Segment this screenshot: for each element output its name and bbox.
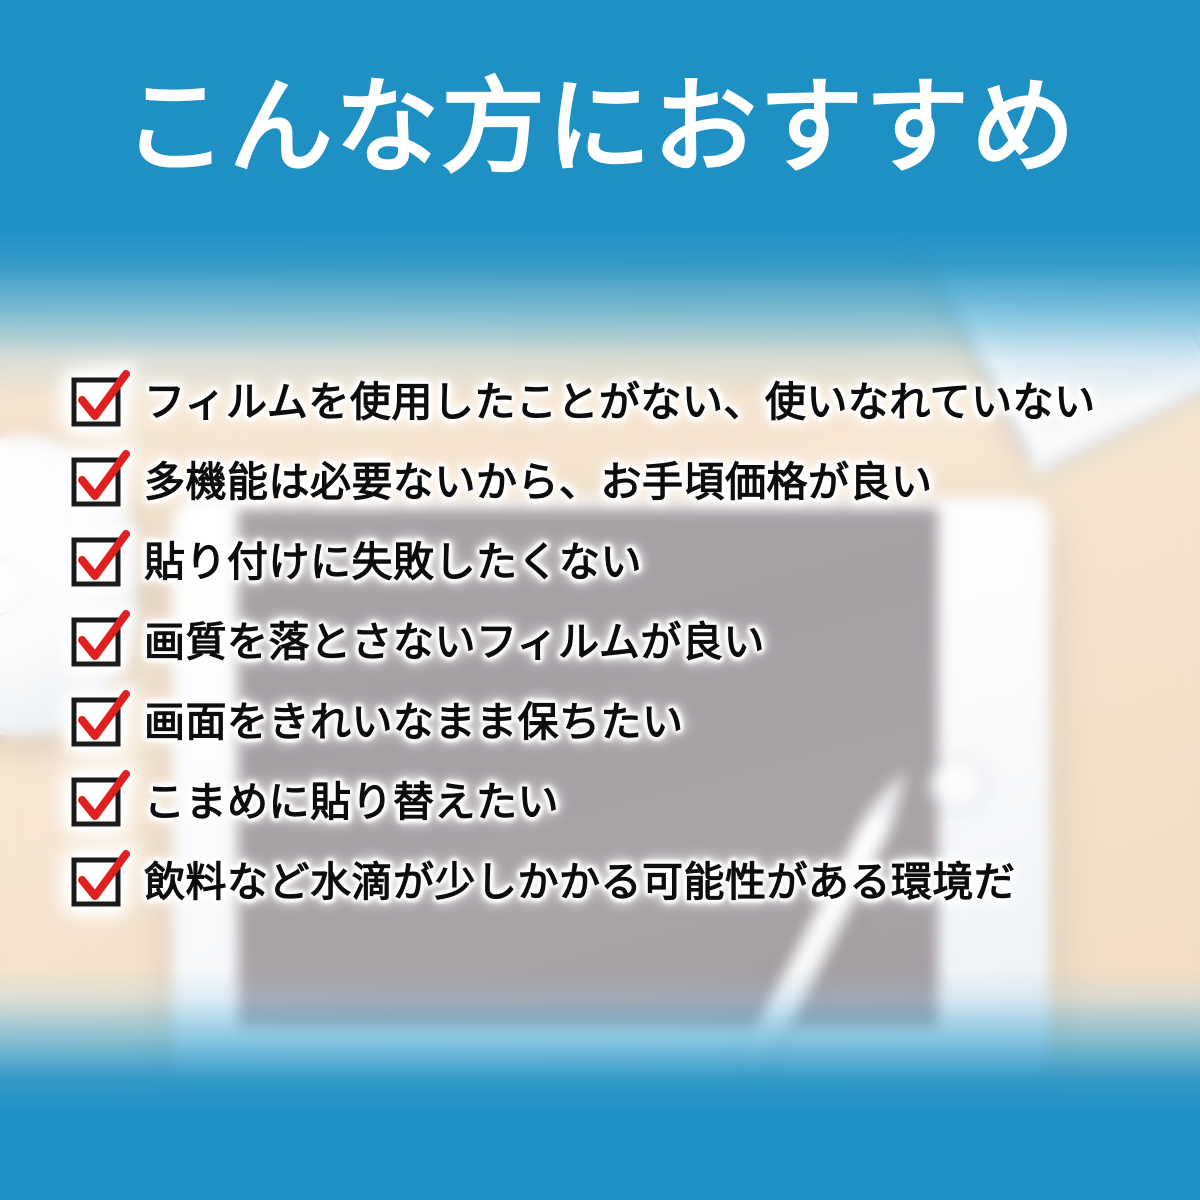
- checkbox-checked-icon: [70, 854, 126, 910]
- checklist-item-label: 画面をきれいなまま保ちたい: [144, 702, 684, 743]
- checklist-item: 多機能は必要ないから、お手頃価格が良い: [70, 442, 1170, 522]
- checkbox-checked-icon: [70, 454, 126, 510]
- checkbox-checked-icon: [70, 774, 126, 830]
- checklist-item-label: こまめに貼り替えたい: [144, 782, 559, 823]
- checklist-item-label: 飲料など水滴が少しかかる可能性がある環境だ: [144, 862, 1016, 903]
- checklist-item-label: 画質を落とさないフィルムが良い: [144, 622, 765, 663]
- recommendation-checklist: フィルムを使用したことがない、使いなれていない 多機能は必要ないから、お手頃価格…: [70, 362, 1170, 922]
- checklist-item: 貼り付けに失敗したくない: [70, 522, 1170, 602]
- checklist-item: 画質を落とさないフィルムが良い: [70, 602, 1170, 682]
- checkbox-checked-icon: [70, 374, 126, 430]
- bottom-blue-band: [0, 970, 1200, 1200]
- top-blue-band: [0, 0, 1200, 400]
- checkbox-checked-icon: [70, 614, 126, 670]
- checklist-item: フィルムを使用したことがない、使いなれていない: [70, 362, 1170, 442]
- promo-banner: こんな方におすすめ フィルムを使用したことがない、使いなれていない 多機能は必要…: [0, 0, 1200, 1200]
- checklist-item: 飲料など水滴が少しかかる可能性がある環境だ: [70, 842, 1170, 922]
- checklist-item-label: 多機能は必要ないから、お手頃価格が良い: [144, 462, 933, 503]
- page-title: こんな方におすすめ: [0, 66, 1200, 189]
- checklist-item: こまめに貼り替えたい: [70, 762, 1170, 842]
- checkbox-checked-icon: [70, 534, 126, 590]
- checklist-item: 画面をきれいなまま保ちたい: [70, 682, 1170, 762]
- checklist-item-label: 貼り付けに失敗したくない: [144, 542, 642, 583]
- checklist-item-label: フィルムを使用したことがない、使いなれていない: [144, 382, 1096, 423]
- checkbox-checked-icon: [70, 694, 126, 750]
